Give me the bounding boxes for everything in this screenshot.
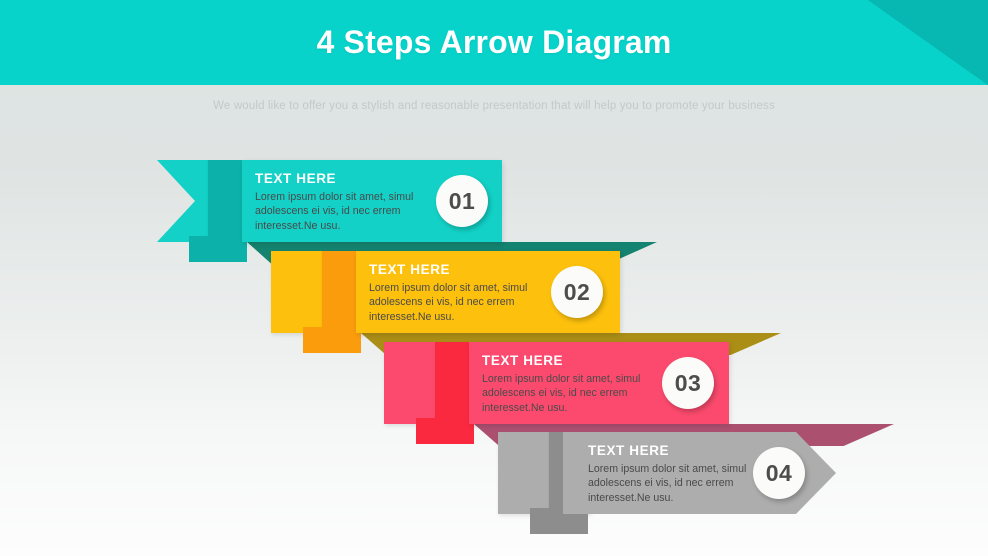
step-body-03: Lorem ipsum dolor sit amet, simul adoles… bbox=[482, 372, 652, 415]
step-item-04[interactable]: TEXT HERE Lorem ipsum dolor sit amet, si… bbox=[498, 432, 836, 537]
step-item-02[interactable]: TEXT HERE Lorem ipsum dolor sit amet, si… bbox=[271, 251, 616, 356]
step-title-04: TEXT HERE bbox=[588, 443, 669, 458]
step-number-01: 01 bbox=[436, 175, 488, 227]
step-body-02: Lorem ipsum dolor sit amet, simul adoles… bbox=[369, 281, 539, 324]
slide-subtitle: We would like to offer you a stylish and… bbox=[0, 100, 988, 112]
step-band-03 bbox=[435, 342, 471, 424]
step-tab-02 bbox=[303, 327, 361, 353]
step-title-03: TEXT HERE bbox=[482, 353, 563, 368]
step-tab-01 bbox=[189, 236, 247, 262]
step-body-04: Lorem ipsum dolor sit amet, simul adoles… bbox=[588, 462, 758, 505]
step-body-01: Lorem ipsum dolor sit amet, simul adoles… bbox=[255, 190, 425, 233]
slide-canvas: 4 Steps Arrow Diagram We would like to o… bbox=[0, 0, 988, 556]
step-item-01[interactable]: TEXT HERE Lorem ipsum dolor sit amet, si… bbox=[157, 160, 502, 265]
step-band-02 bbox=[322, 251, 358, 333]
step-number-03: 03 bbox=[662, 357, 714, 409]
step-title-02: TEXT HERE bbox=[369, 262, 450, 277]
page-title: 4 Steps Arrow Diagram bbox=[0, 0, 988, 85]
step-band-01 bbox=[208, 160, 244, 242]
step-title-01: TEXT HERE bbox=[255, 171, 336, 186]
slide-header: 4 Steps Arrow Diagram bbox=[0, 0, 988, 85]
step-tab-03 bbox=[416, 418, 474, 444]
step-number-02: 02 bbox=[551, 266, 603, 318]
step-number-04: 04 bbox=[753, 447, 805, 499]
